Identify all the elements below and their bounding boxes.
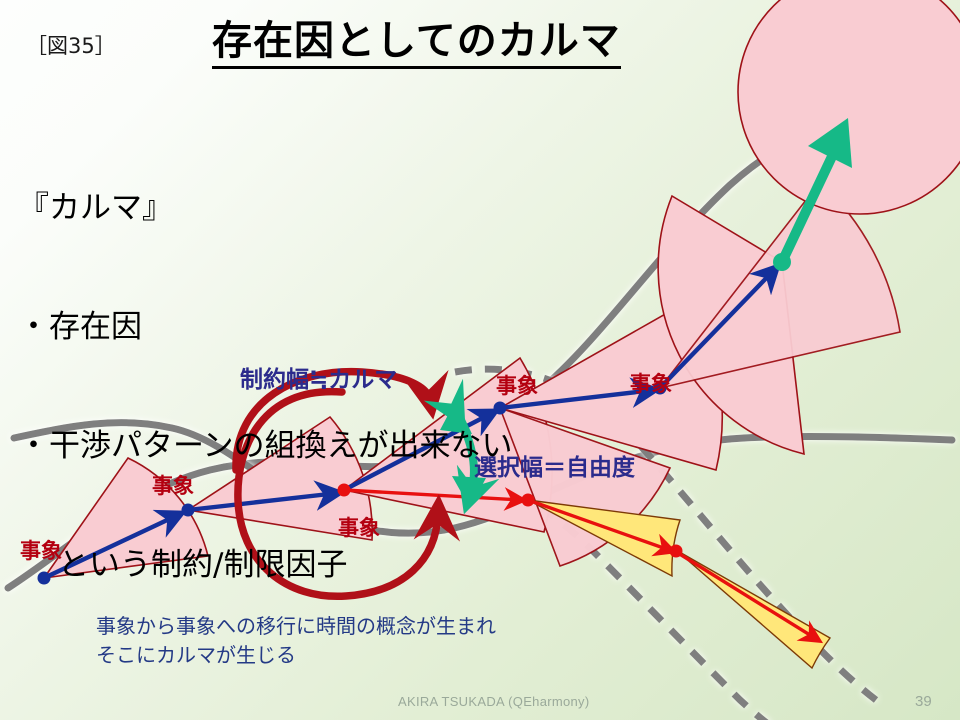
event-label-1: 事象 — [20, 535, 62, 565]
bullet-line-2: ・干渉パターンの組換えが出来ない — [18, 427, 512, 467]
diagram-caption: 事象から事象への移行に時間の概念が生まれ そこにカルマが生じる — [96, 612, 496, 670]
annotation-constraint-width: 制約幅≒カルマ — [240, 360, 397, 394]
event-label-3: 事象 — [338, 512, 380, 542]
page-title: 存在因としてのカルマ — [212, 18, 621, 69]
figure-tag: ［図35］ — [26, 30, 116, 60]
event-node-7 — [670, 545, 683, 558]
slide-root: ［図35］ 存在因としてのカルマ 『カルマ』 ・存在因 ・干渉パターンの組換えが… — [0, 0, 960, 720]
event-label-5: 事象 — [630, 368, 672, 398]
bullet-line-3: という制約/制限因子 — [18, 546, 512, 586]
bullet-heading: 『カルマ』 — [18, 189, 512, 229]
bullet-line-1: ・存在因 — [18, 308, 512, 348]
event-node-6 — [522, 494, 535, 507]
annotation-choice-width: 選択幅＝自由度 — [474, 448, 635, 482]
caption-line-2: そこにカルマが生じる — [96, 641, 496, 670]
event-label-4: 事象 — [496, 370, 538, 400]
event-label-2: 事象 — [152, 470, 194, 500]
footer-page-number: 39 — [915, 693, 932, 710]
caption-line-1: 事象から事象への移行に時間の概念が生まれ — [96, 612, 496, 641]
footer-credit: AKIRA TSUKADA (QEharmony) — [398, 694, 590, 709]
